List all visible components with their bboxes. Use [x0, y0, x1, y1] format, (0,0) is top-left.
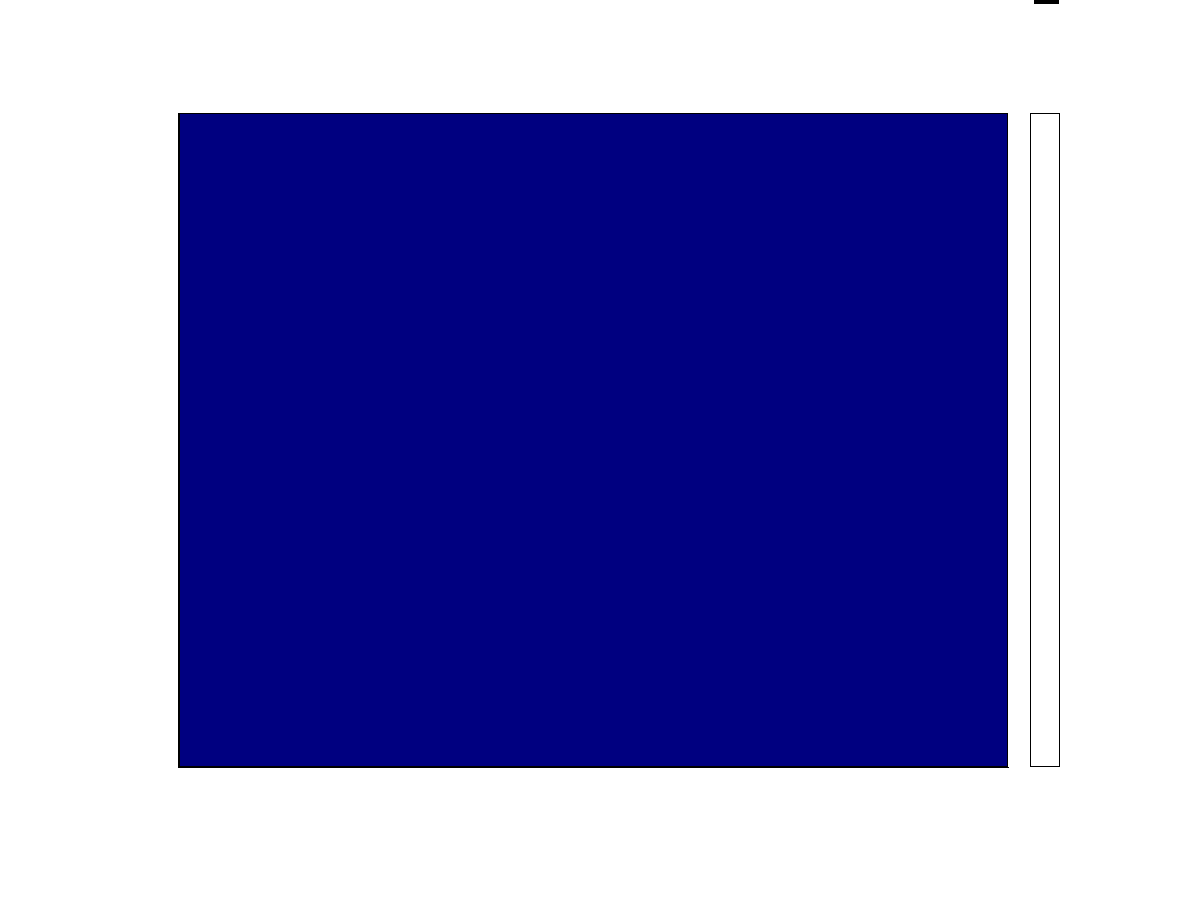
x-axis-line — [178, 767, 1009, 768]
stray-top-mark — [1034, 0, 1059, 4]
colorbar — [1030, 113, 1060, 767]
y-axis-line — [178, 113, 179, 768]
heatmap-canvas — [179, 113, 1008, 767]
heatmap-plot-area — [179, 113, 1008, 767]
